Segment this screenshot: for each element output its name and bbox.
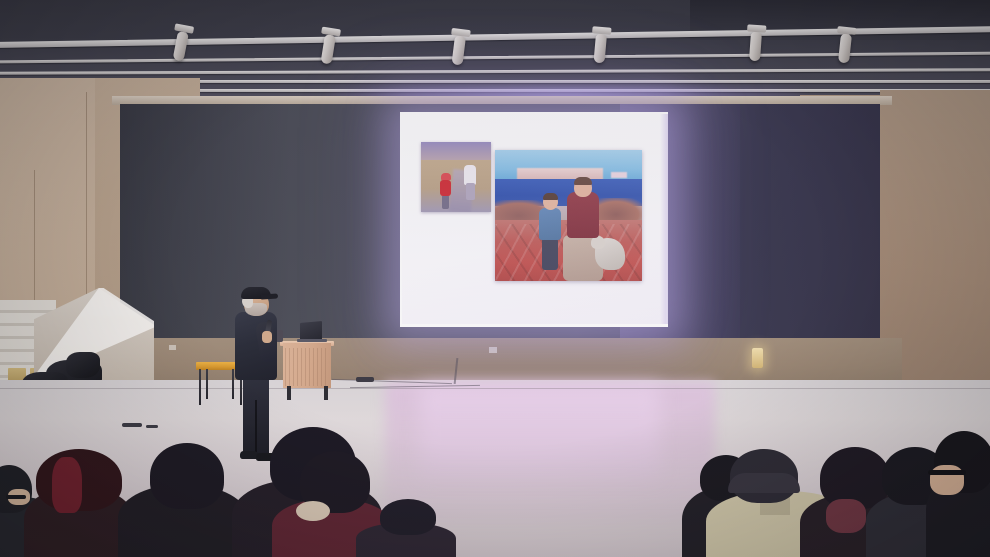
audience-hair-highlight xyxy=(52,457,82,513)
wall-outlet xyxy=(489,347,497,353)
slide-edge-falloff xyxy=(660,114,668,324)
audience-person-head xyxy=(150,443,224,509)
laptop-base xyxy=(297,339,327,342)
presenter-hand xyxy=(262,331,272,343)
projector-floor-reflection-core xyxy=(420,384,660,479)
audience-person-head xyxy=(380,499,436,535)
floor-seam xyxy=(0,388,990,389)
slide-photo-large xyxy=(495,150,642,281)
wall-outlet xyxy=(169,345,176,350)
podium-leg xyxy=(324,386,328,400)
beanie-icon xyxy=(728,473,800,493)
glasses-icon xyxy=(928,470,966,475)
audience-hair-highlight xyxy=(826,499,866,533)
audience-scarf xyxy=(296,501,330,521)
floor-object xyxy=(356,377,374,382)
photo-figure-child-legs xyxy=(442,195,449,209)
floor-object xyxy=(122,423,142,427)
podium-panel-texture xyxy=(285,348,329,386)
presenter-leg-gap xyxy=(255,400,257,452)
wall-panel-seam xyxy=(86,92,87,322)
auditorium-photo xyxy=(0,0,990,557)
photo-figure-child xyxy=(440,180,451,196)
track-spotlight-icon xyxy=(749,32,762,62)
podium-leg xyxy=(287,386,291,400)
floor-object xyxy=(146,425,158,428)
desk-item xyxy=(276,330,283,342)
photo-figure-adult-legs xyxy=(466,183,475,200)
photo-figure-adult xyxy=(464,165,476,185)
photo-projection-haze xyxy=(495,150,642,281)
bench-leg xyxy=(206,369,208,399)
wall-panel-seam xyxy=(34,170,35,315)
projected-slide xyxy=(402,114,666,324)
bag-on-floor xyxy=(66,352,100,378)
photo-figure-child-hat xyxy=(441,173,451,180)
slide-photo-small xyxy=(421,142,491,212)
bench-leg xyxy=(199,369,201,405)
glasses-icon xyxy=(6,495,26,499)
bench-leg xyxy=(232,369,234,399)
amber-wall-light xyxy=(752,348,763,368)
photo-sky xyxy=(421,142,491,162)
